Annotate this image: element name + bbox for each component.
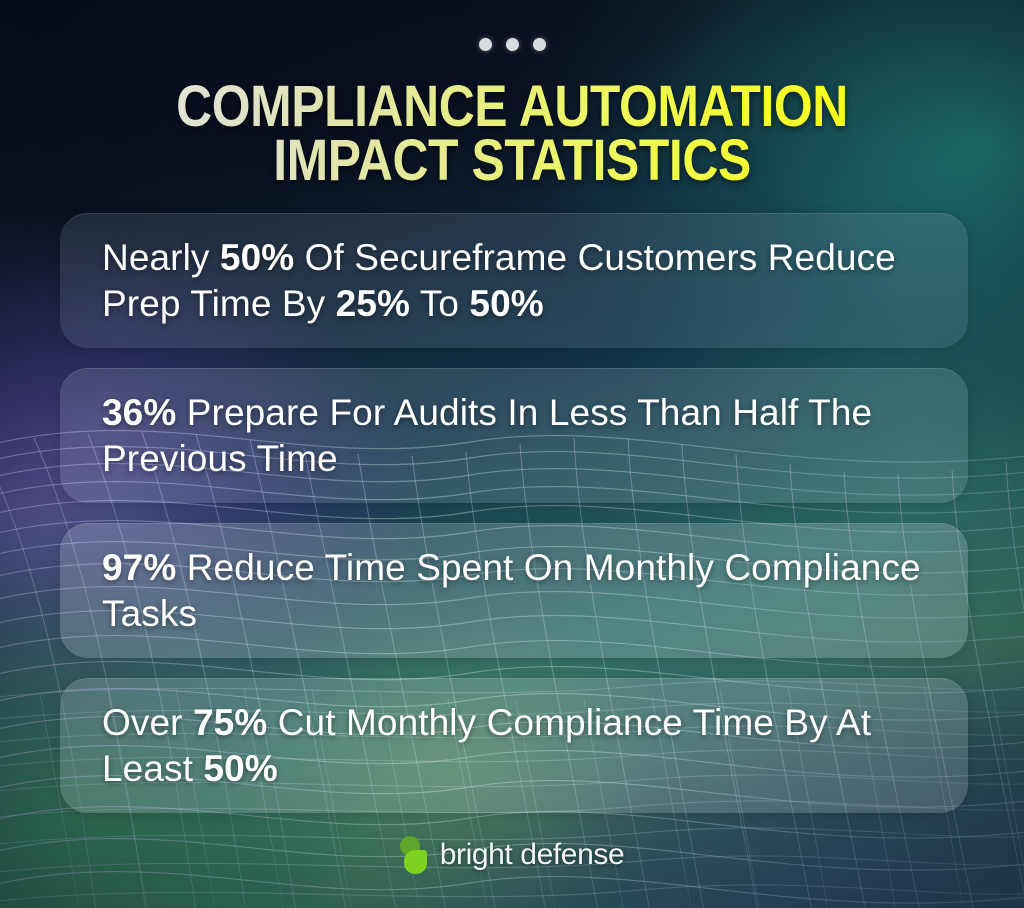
brand-logo: bright defense (0, 836, 1024, 874)
page-title: COMPLIANCE AUTOMATION IMPACT STATISTICS (0, 80, 1024, 188)
stat-card: Nearly 50% Of Secureframe Customers Redu… (60, 213, 968, 348)
stat-card-text: 97% Reduce Time Spent On Monthly Complia… (102, 545, 926, 635)
dot-icon-1 (479, 38, 492, 51)
brand-logo-text: bright defense (440, 838, 625, 872)
dot-icon-3 (533, 38, 546, 51)
stat-card: Over 75% Cut Monthly Compliance Time By … (60, 678, 968, 813)
infographic-canvas: COMPLIANCE AUTOMATION IMPACT STATISTICS … (0, 0, 1024, 908)
bright-defense-mark-icon (400, 836, 427, 874)
stat-card-text: Over 75% Cut Monthly Compliance Time By … (102, 700, 926, 790)
title-line-1: COMPLIANCE AUTOMATION (72, 80, 953, 134)
header-dots (0, 38, 1024, 51)
stat-card-text: 36% Prepare For Audits In Less Than Half… (102, 390, 926, 480)
logo-lobe-bottom (404, 850, 427, 874)
title-line-2: IMPACT STATISTICS (72, 134, 953, 188)
stat-card-text: Nearly 50% Of Secureframe Customers Redu… (102, 235, 926, 325)
stat-card-list: Nearly 50% Of Secureframe Customers Redu… (60, 213, 968, 833)
stat-card: 97% Reduce Time Spent On Monthly Complia… (60, 523, 968, 658)
dot-icon-2 (506, 38, 519, 51)
stat-card: 36% Prepare For Audits In Less Than Half… (60, 368, 968, 503)
